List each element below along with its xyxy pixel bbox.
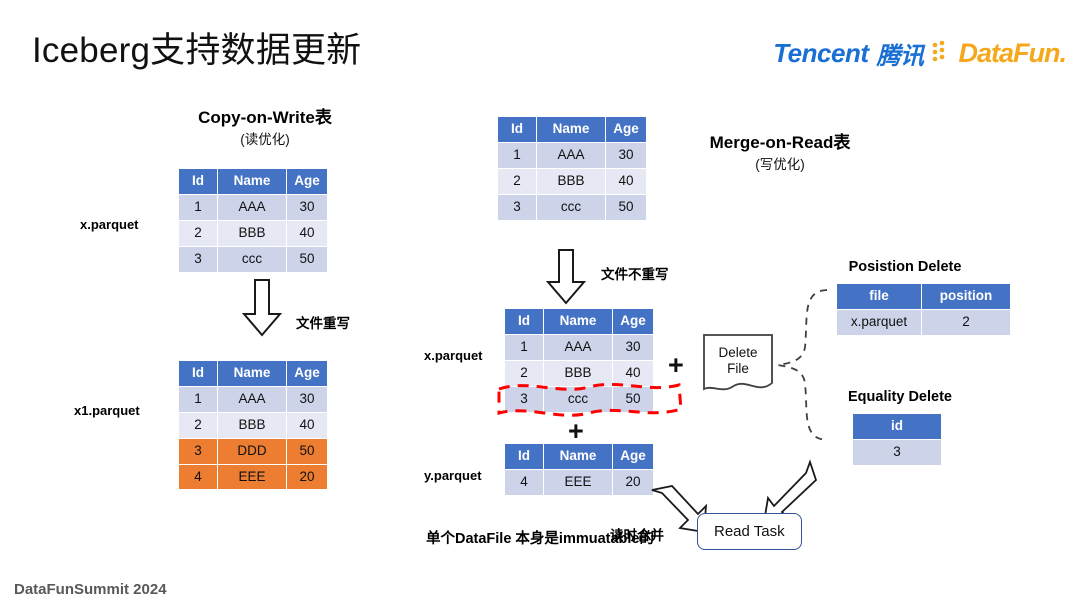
column-header: Id xyxy=(179,169,217,194)
column-header: Id xyxy=(505,309,543,334)
mor-y-parquet-label: y.parquet xyxy=(424,468,482,483)
column-header: Age xyxy=(287,169,327,194)
delete-file-line2: File xyxy=(702,361,774,377)
cell: 3 xyxy=(179,247,217,272)
brand-logo: Tencent 腾讯 DataFun. xyxy=(773,36,1066,71)
column-header: Age xyxy=(613,309,653,334)
table-header-row: Id Name Age xyxy=(505,444,653,469)
table: Id Name Age 1 AAA 30 2 BBB 40 3 ccc 50 xyxy=(178,168,328,273)
table-row: 1 AAA 30 xyxy=(498,143,646,168)
cell: 1 xyxy=(498,143,536,168)
cell: AAA xyxy=(218,387,286,412)
cell: AAA xyxy=(537,143,605,168)
bottom-note: 单个DataFile 本身是immuatable的 xyxy=(426,531,654,547)
merge-on-read-subtitle: (写优化) xyxy=(660,153,900,173)
equality-delete-table: id 3 xyxy=(852,413,942,466)
file-rewrite-label: 文件重写 xyxy=(296,312,350,332)
tencent-wordmark-cn: 腾讯 xyxy=(876,36,923,71)
plus-sign-tables: + xyxy=(568,418,584,445)
table-header-row: file position xyxy=(837,284,1010,309)
cell: ccc xyxy=(537,195,605,220)
table-row: 3 xyxy=(853,440,941,465)
file-rewrite-arrow-icon xyxy=(240,278,284,343)
mor-x-parquet-label: x.parquet xyxy=(424,348,483,363)
cell: 20 xyxy=(613,470,653,495)
cell: 20 xyxy=(287,465,327,490)
cell: 2 xyxy=(498,169,536,194)
merge-on-read-title: Merge-on-Read表 xyxy=(660,128,900,153)
datafun-wordmark: DataFun. xyxy=(958,38,1066,69)
footer-text: DataFunSummit 2024 xyxy=(14,581,167,598)
column-header: id xyxy=(853,414,941,439)
cell: 40 xyxy=(287,221,327,246)
cell: 40 xyxy=(606,169,646,194)
cell: 30 xyxy=(606,143,646,168)
cell: EEE xyxy=(218,465,286,490)
table-row: 3 ccc 50 xyxy=(179,247,327,272)
table-header-row: Id Name Age xyxy=(498,117,646,142)
cell: 50 xyxy=(287,247,327,272)
file-no-rewrite-arrow-icon xyxy=(544,248,588,311)
cell: AAA xyxy=(218,195,286,220)
cow-source-file-label: x.parquet xyxy=(80,217,139,232)
table-row: 2 BBB 40 xyxy=(179,413,327,438)
table-row: x.parquet 2 xyxy=(837,310,1010,335)
column-header: Id xyxy=(179,361,217,386)
cell: AAA xyxy=(544,335,612,360)
cell: 3 xyxy=(853,440,941,465)
table: Id Name Age 1 AAA 30 2 BBB 40 3 ccc 50 xyxy=(497,116,647,221)
copy-on-write-title: Copy-on-Write表 xyxy=(130,103,400,128)
cell: 1 xyxy=(179,195,217,220)
cell: 30 xyxy=(287,195,327,220)
table-header-row: Id Name Age xyxy=(179,361,327,386)
cell: 50 xyxy=(287,439,327,464)
table: Id Name Age 4 EEE 20 xyxy=(504,443,654,496)
plus-sign-delete-file: + xyxy=(668,352,684,379)
column-header: file xyxy=(837,284,921,309)
table-row: 1 AAA 30 xyxy=(179,387,327,412)
column-header: Name xyxy=(218,169,286,194)
deleted-row-highlight-outline xyxy=(489,375,689,428)
cell: 4 xyxy=(505,470,543,495)
bottom-note-wrapper: 单个DataFile 本身是immuatable的 xyxy=(0,527,1080,548)
column-header: Age xyxy=(606,117,646,142)
table-header-row: Id Name Age xyxy=(505,309,653,334)
table-row: 4 EEE 20 xyxy=(505,470,653,495)
cow-result-file-label: x1.parquet xyxy=(74,403,140,418)
cell: 3 xyxy=(179,439,217,464)
cow-source-table: Id Name Age 1 AAA 30 2 BBB 40 3 ccc 50 xyxy=(178,168,328,273)
delete-file-shape: Delete File xyxy=(702,333,774,395)
cell: 3 xyxy=(498,195,536,220)
cell: 50 xyxy=(606,195,646,220)
column-header: Age xyxy=(613,444,653,469)
position-delete-table: file position x.parquet 2 xyxy=(836,283,1011,336)
tencent-wordmark: Tencent xyxy=(773,38,868,69)
column-header: Id xyxy=(498,117,536,142)
cell: 2 xyxy=(922,310,1010,335)
copy-on-write-subtitle: (读优化) xyxy=(130,128,400,148)
table-row: 1 AAA 30 xyxy=(179,195,327,220)
cell: BBB xyxy=(218,413,286,438)
table-row-highlighted: 3 DDD 50 xyxy=(179,439,327,464)
column-header: position xyxy=(922,284,1010,309)
delete-file-line1: Delete xyxy=(702,345,774,361)
position-delete-title: Posistion Delete xyxy=(790,259,1020,275)
file-no-rewrite-label: 文件不重写 xyxy=(601,263,669,283)
column-header: Name xyxy=(537,117,605,142)
table-header-row: id xyxy=(853,414,941,439)
column-header: Name xyxy=(544,444,612,469)
cell: 2 xyxy=(179,413,217,438)
cell: EEE xyxy=(544,470,612,495)
cell: x.parquet xyxy=(837,310,921,335)
table-row: 2 BBB 40 xyxy=(498,169,646,194)
column-header: Id xyxy=(505,444,543,469)
cow-result-table: Id Name Age 1 AAA 30 2 BBB 40 3 DDD 50 4 xyxy=(178,360,328,490)
delete-file-label: Delete File xyxy=(702,345,774,377)
cell: ccc xyxy=(218,247,286,272)
cell: DDD xyxy=(218,439,286,464)
cell: 30 xyxy=(613,335,653,360)
cell: 1 xyxy=(505,335,543,360)
table-row: 1 AAA 30 xyxy=(505,335,653,360)
cell: 2 xyxy=(179,221,217,246)
table: file position x.parquet 2 xyxy=(836,283,1011,336)
column-header: Name xyxy=(218,361,286,386)
cell: BBB xyxy=(218,221,286,246)
column-header: Name xyxy=(544,309,612,334)
table: Id Name Age 1 AAA 30 2 BBB 40 3 DDD 50 4 xyxy=(178,360,328,490)
cell: 1 xyxy=(179,387,217,412)
table-header-row: Id Name Age xyxy=(179,169,327,194)
mor-source-table: Id Name Age 1 AAA 30 2 BBB 40 3 ccc 50 xyxy=(497,116,647,221)
table: id 3 xyxy=(852,413,942,466)
table-row: 2 BBB 40 xyxy=(179,221,327,246)
column-header: Age xyxy=(287,361,327,386)
cell: 4 xyxy=(179,465,217,490)
cell: 40 xyxy=(287,413,327,438)
mor-y-parquet-table: Id Name Age 4 EEE 20 xyxy=(504,443,654,496)
cell: BBB xyxy=(537,169,605,194)
page-title: Iceberg支持数据更新 xyxy=(32,22,361,73)
equality-delete-title: Equality Delete xyxy=(790,389,1010,405)
delete-file-brace-connector xyxy=(772,285,832,450)
cell: 30 xyxy=(287,387,327,412)
datafun-dots-icon xyxy=(931,38,953,69)
table-row: 3 ccc 50 xyxy=(498,195,646,220)
table-row-highlighted: 4 EEE 20 xyxy=(179,465,327,490)
